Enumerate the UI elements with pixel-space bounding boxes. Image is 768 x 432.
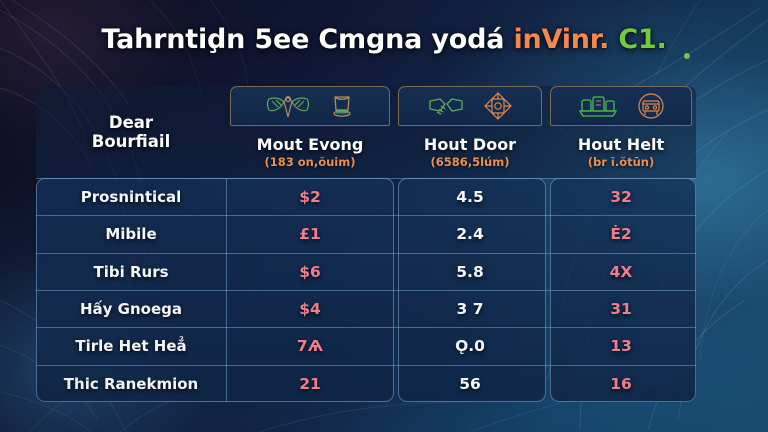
table-row: Tibi Rurs (36, 253, 226, 290)
column-2-name: Hout Door (424, 136, 516, 154)
table-cell: 31 (546, 290, 696, 327)
column-2-icon-card (398, 86, 542, 126)
table-cell: 4X (546, 253, 696, 290)
table-row: Prosnintical (36, 178, 226, 215)
table-cell: 2.4 (394, 215, 546, 252)
table-cell: Ǫ.0 (394, 327, 546, 364)
column-3-name: Hout Helt (578, 136, 664, 154)
table-cell: $4 (226, 290, 394, 327)
wings-icon (265, 93, 311, 119)
slide-canvas: Tahrntiḑn 5ee Cmgna yodá inVinr. C1. Dea… (0, 0, 768, 432)
table-row: Thic Ranekmion (36, 365, 226, 402)
table-cell: 56 (394, 365, 546, 402)
table-cell: 32 (546, 178, 696, 215)
table-row: Hấy Gnoega (36, 290, 226, 327)
table-cell: £1 (226, 215, 394, 252)
row-header-line1: Dear (109, 113, 153, 132)
column-3-icon-card (550, 86, 692, 126)
table-cell: $2 (226, 178, 394, 215)
comparison-table: Dear Bourfiail (36, 86, 696, 402)
title-white-segment: Tahrntiḑn 5ee Cmgna yodá (101, 24, 504, 55)
title-orange-segment: inVinr. (513, 24, 609, 55)
handshake-icon (427, 93, 465, 119)
table-cell: 4.5 (394, 178, 546, 215)
column-1-icon-card (230, 86, 390, 126)
machine-circle-icon (637, 92, 665, 120)
column-header-1[interactable]: Mout Evong (183 on,ŏuim) (226, 86, 394, 178)
table-cell: 3 7 (394, 290, 546, 327)
column-1-name: Mout Evong (257, 136, 364, 154)
table-row: Mibile (36, 215, 226, 252)
row-header-line2: Bourfiail (92, 132, 170, 151)
table-cell: Ė2 (546, 215, 696, 252)
crates-tray-icon (577, 93, 619, 119)
table-row: Tirle Het Heẳ (36, 327, 226, 364)
table-cell: 7Ѧ (226, 327, 394, 364)
title-green-segment: C1. (618, 24, 666, 55)
column-header-3[interactable]: Hout Helt (br ĩ.ŏtūn) (546, 86, 696, 178)
cup-icon (329, 93, 355, 119)
table-cell: 13 (546, 327, 696, 364)
column-1-subtitle: (183 on,ŏuim) (265, 154, 356, 171)
column-header-2[interactable]: Hout Door (6586,5lúm) (394, 86, 546, 178)
table-cell: $6 (226, 253, 394, 290)
table-cell: 5.8 (394, 253, 546, 290)
diamond-badge-icon (483, 91, 513, 121)
table-grid: Dear Bourfiail (36, 86, 696, 402)
table-cell: 21 (226, 365, 394, 402)
column-2-subtitle: (6586,5lúm) (430, 154, 509, 171)
page-title: Tahrntiḑn 5ee Cmgna yodá inVinr. C1. (0, 26, 768, 53)
table-corner-header: Dear Bourfiail (36, 86, 226, 178)
table-cell: 16 (546, 365, 696, 402)
column-3-subtitle: (br ĩ.ŏtūn) (588, 154, 655, 171)
